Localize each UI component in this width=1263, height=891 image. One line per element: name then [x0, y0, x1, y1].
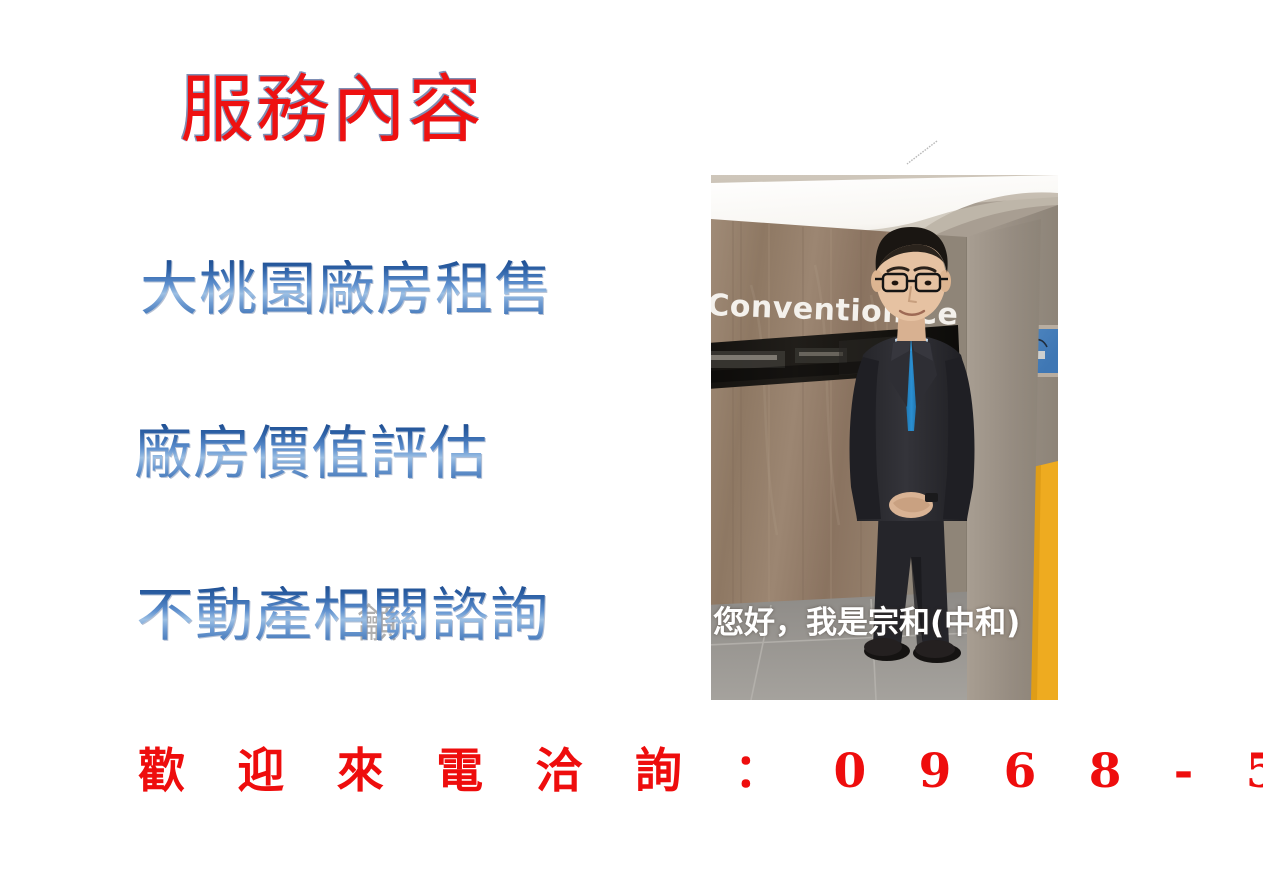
contact-phone-line: 歡 迎 來 電 洽 詢 ： 0 9 6 8 - 5 1 9 - 8 8 8	[138, 748, 1263, 795]
slide-canvas: 服務內容 大桃園廠房租售 廠房價值評估 龥 不動產相關諮詢	[0, 0, 1263, 891]
service-item-1: 大桃園廠房租售	[140, 260, 553, 318]
service-item-3: 不動產相關諮詢	[136, 586, 549, 644]
page-title: 服務內容	[180, 73, 484, 147]
service-item-2: 廠房價值評估	[134, 424, 488, 482]
diagonal-line-decoration	[905, 140, 939, 166]
profile-photo-image: Convention Ce	[711, 175, 1058, 700]
profile-photo: Convention Ce	[711, 175, 1058, 700]
